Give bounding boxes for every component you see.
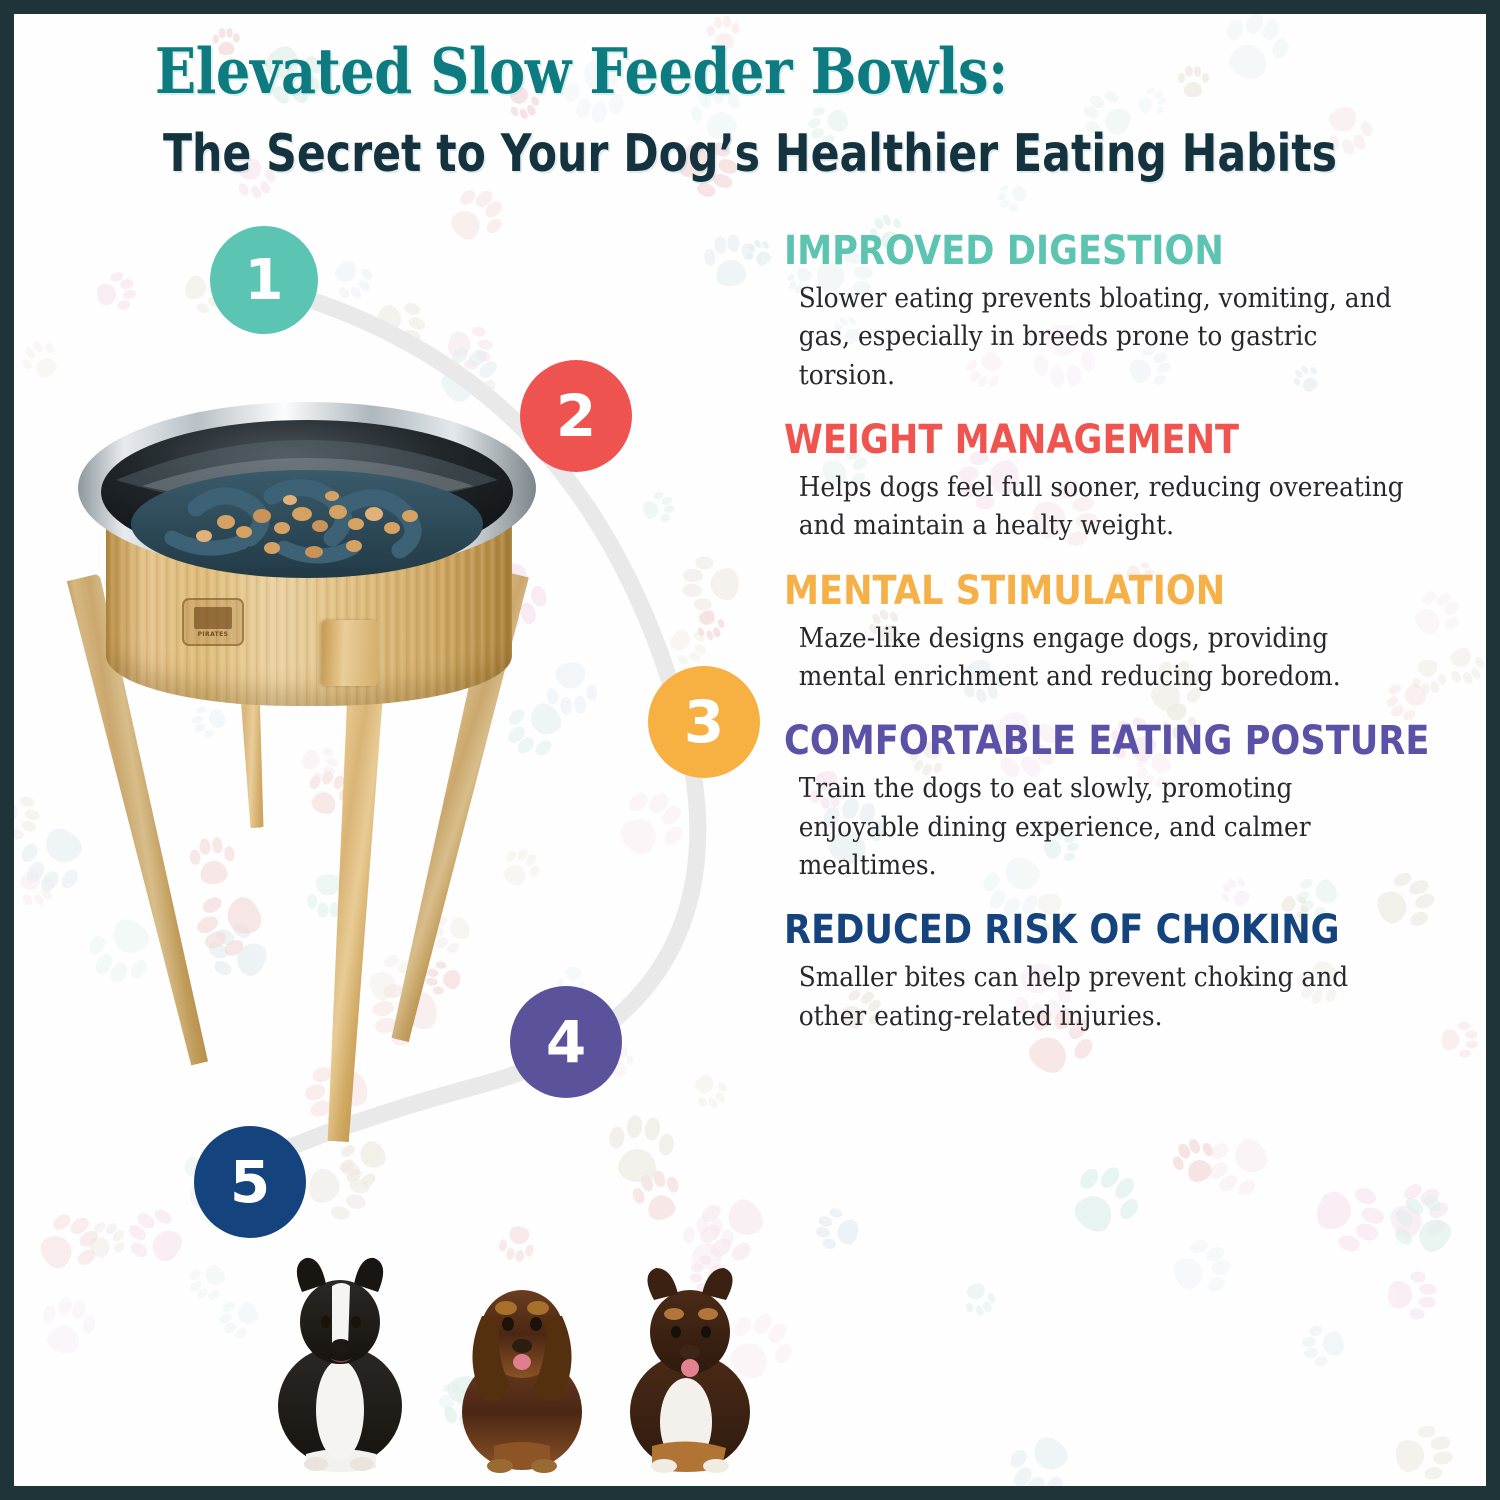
- paw-print-icon: [1163, 1230, 1240, 1306]
- paw-print-icon: [1376, 1172, 1461, 1256]
- step-number-circle-2: 2: [520, 360, 632, 472]
- paw-print-icon: [437, 177, 516, 256]
- benefit-comfortable-eating-posture: COMFORTABLE EATING POSTURETrain the dogs…: [784, 720, 1464, 885]
- bamboo-notch-block: [322, 620, 378, 686]
- page-title-line1: Elevated Slow Feeder Bowls:: [117, 38, 1383, 104]
- paw-print-icon: [811, 1204, 864, 1256]
- paw-print-icon: [637, 488, 679, 529]
- paw-print-icon: [1165, 1131, 1225, 1192]
- benefit-body-comfortable-eating-posture: Train the dogs to eat slowly, promoting …: [784, 770, 1410, 885]
- page-title-line2: The Secret to Your Dog’s Healthier Eatin…: [146, 126, 1353, 183]
- flag-icon: [194, 607, 232, 629]
- paw-print-icon: [602, 775, 698, 872]
- step-number-circle-4: 4: [510, 986, 622, 1098]
- paw-print-icon: [26, 1201, 111, 1285]
- brand-name-label: PIRATES: [198, 631, 229, 638]
- paw-print-icon: [14, 787, 47, 845]
- paw-print-icon: [181, 1254, 235, 1308]
- benefit-body-weight-management: Helps dogs feel full sooner, reducing ov…: [784, 469, 1410, 546]
- paw-print-icon: [1194, 1121, 1283, 1209]
- benefit-title-mental-stimulation: MENTAL STIMULATION: [784, 570, 1382, 612]
- paw-print-icon: [690, 604, 729, 644]
- paw-print-icon: [699, 229, 759, 291]
- paw-print-icon: [740, 234, 778, 272]
- paw-print-icon: [14, 333, 68, 387]
- paw-print-icon: [79, 1212, 135, 1268]
- benefit-improved-digestion: IMPROVED DIGESTIONSlower eating prevents…: [784, 230, 1464, 395]
- paw-print-icon: [996, 1422, 1085, 1486]
- stainless-steel-bowl: [76, 396, 538, 606]
- paw-print-icon: [685, 1066, 734, 1116]
- paw-print-icon: [368, 292, 434, 356]
- paw-print-icon: [679, 555, 741, 614]
- benefits-list: IMPROVED DIGESTIONSlower eating prevents…: [784, 230, 1464, 1060]
- infographic-poster: Elevated Slow Feeder Bowls: The Secret t…: [0, 0, 1500, 1500]
- step-number-circle-5: 5: [194, 1126, 306, 1238]
- dog-cocker-spaniel: [462, 1290, 582, 1473]
- benefit-body-improved-digestion: Slower eating prevents bloating, vomitin…: [784, 280, 1410, 395]
- paw-print-icon: [1305, 1173, 1395, 1261]
- paw-print-icon: [1055, 1151, 1153, 1249]
- paw-print-icon: [91, 267, 141, 316]
- paw-print-icon: [33, 1290, 102, 1361]
- paw-print-icon: [1389, 1420, 1458, 1486]
- paw-print-icon: [1297, 1321, 1349, 1371]
- paw-print-icon: [1379, 1181, 1467, 1269]
- dog-australian-shepherd: [630, 1268, 750, 1473]
- step-number-circle-3: 3: [648, 666, 760, 778]
- paw-print-icon: [957, 1277, 1000, 1321]
- dog-border-collie: [278, 1258, 402, 1472]
- paw-print-icon: [441, 319, 498, 375]
- paw-print-icon: [1385, 1270, 1439, 1322]
- benefit-weight-management: WEIGHT MANAGEMENTHelps dogs feel full so…: [784, 419, 1464, 546]
- benefit-title-weight-management: WEIGHT MANAGEMENT: [784, 419, 1382, 461]
- benefit-title-improved-digestion: IMPROVED DIGESTION: [784, 230, 1382, 272]
- benefit-title-comfortable-eating-posture: COMFORTABLE EATING POSTURE: [784, 720, 1382, 762]
- benefit-body-mental-stimulation: Maze-like designs engage dogs, providing…: [784, 620, 1410, 697]
- poster-canvas: Elevated Slow Feeder Bowls: The Secret t…: [14, 14, 1486, 1486]
- benefit-reduced-risk-of-choking: REDUCED RISK OF CHOKINGSmaller bites can…: [784, 909, 1464, 1036]
- step-number-circle-1: 1: [210, 226, 318, 334]
- benefit-body-reduced-risk-of-choking: Smaller bites can help prevent choking a…: [784, 959, 1410, 1036]
- paw-print-icon: [324, 251, 381, 308]
- dogs-photo-group: [244, 1174, 804, 1474]
- paw-print-icon: [116, 1197, 197, 1277]
- benefit-title-reduced-risk-of-choking: REDUCED RISK OF CHOKING: [784, 909, 1382, 951]
- benefit-mental-stimulation: MENTAL STIMULATIONMaze-like designs enga…: [784, 570, 1464, 697]
- title-block: Elevated Slow Feeder Bowls: The Secret t…: [14, 38, 1486, 183]
